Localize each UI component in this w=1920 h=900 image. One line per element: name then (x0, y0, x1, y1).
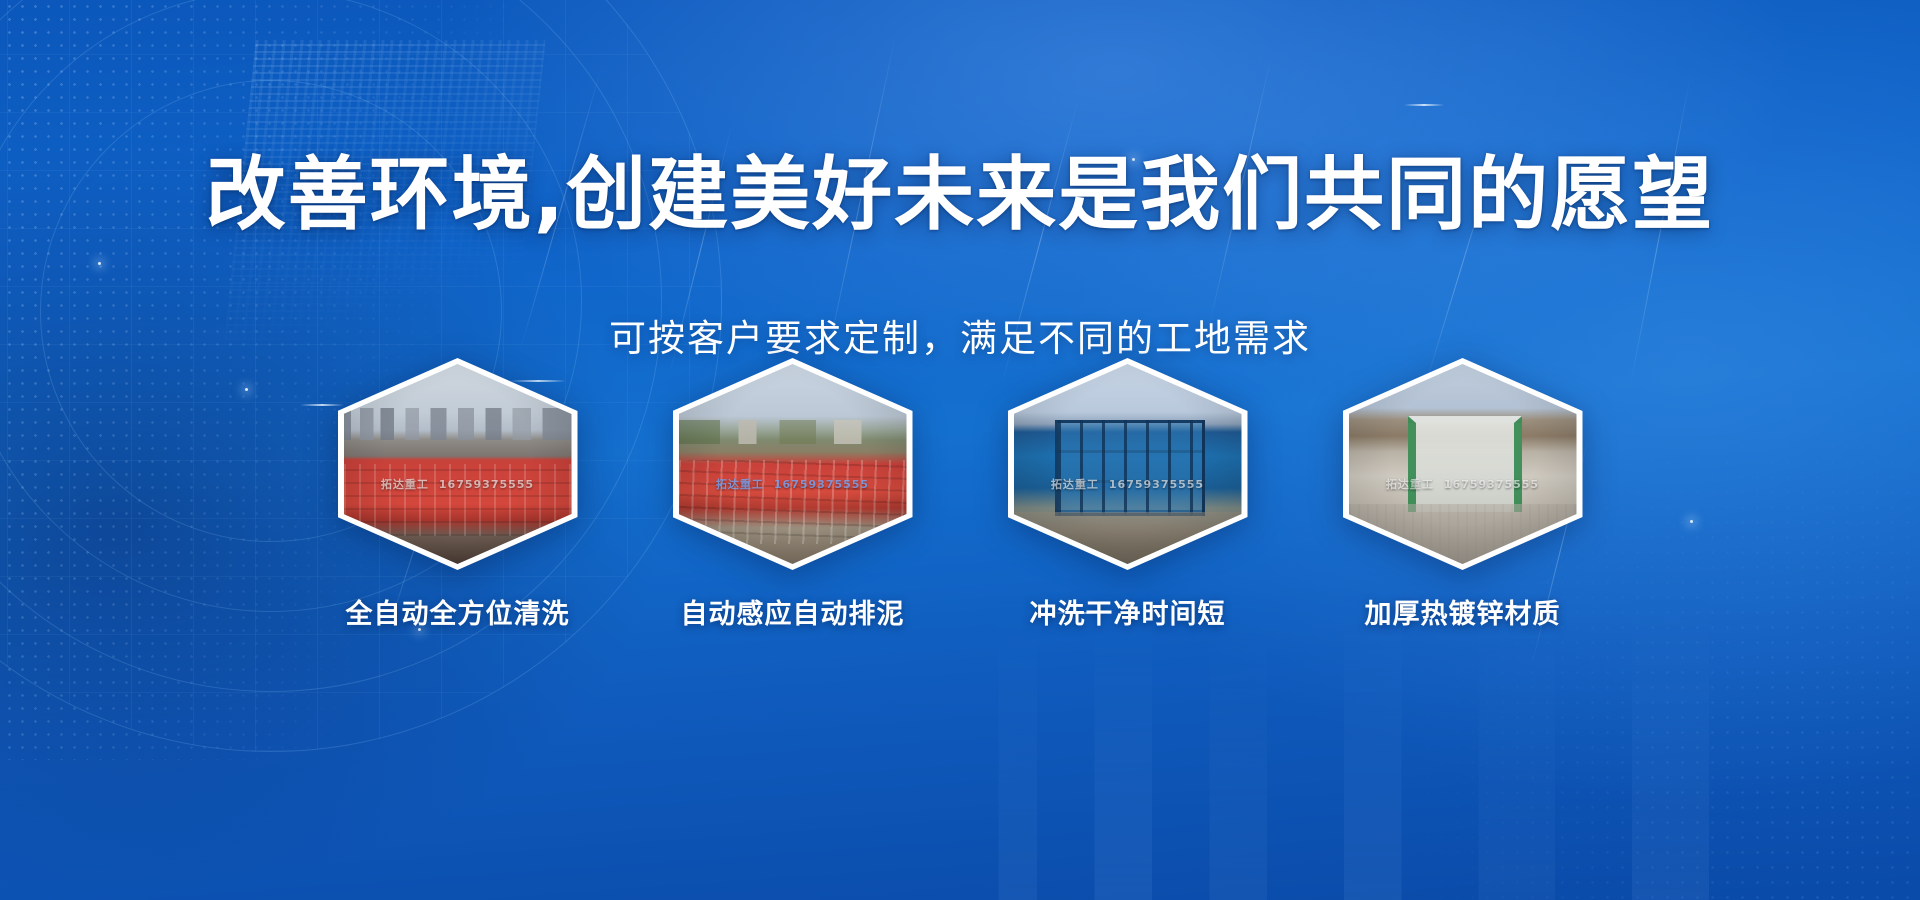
banner-subtitle: 可按客户要求定制，满足不同的工地需求 (0, 320, 1920, 357)
sparkle-star (1404, 104, 1444, 106)
sparkle-dot (98, 262, 101, 265)
feature-item-full-auto-wash[interactable]: 拓达重工 16759375555 全自动全方位清洗 (320, 358, 595, 631)
hexagon-photo-frame[interactable]: 拓达重工 16759375555 (338, 358, 578, 570)
banner-headline: 改善环境,创建美好未来是我们共同的愿望 (0, 155, 1920, 235)
hexagon-photo-frame[interactable]: 拓达重工 16759375555 (1343, 358, 1583, 570)
feature-label: 自动感应自动排泥 (681, 592, 905, 631)
feature-item-fast-clean-wash[interactable]: 拓达重工 16759375555 冲洗干净时间短 (990, 358, 1265, 631)
hexagon-photo-frame[interactable]: 拓达重工 16759375555 (673, 358, 913, 570)
hexagon-photo-frame[interactable]: 拓达重工 16759375555 (1008, 358, 1248, 570)
feature-item-thick-galvanized-material[interactable]: 拓达重工 16759375555 加厚热镀锌材质 (1325, 358, 1600, 631)
feature-label: 冲洗干净时间短 (1030, 592, 1226, 631)
feature-hexagon-row: 拓达重工 16759375555 全自动全方位清洗 拓达重工 (0, 358, 1920, 631)
feature-item-auto-sensing-desilting[interactable]: 拓达重工 16759375555 自动感应自动排泥 (655, 358, 930, 631)
promotional-banner: 改善环境,创建美好未来是我们共同的愿望 可按客户要求定制，满足不同的工地需求 拓… (0, 0, 1920, 900)
feature-label: 加厚热镀锌材质 (1365, 592, 1561, 631)
feature-label: 全自动全方位清洗 (346, 592, 570, 631)
